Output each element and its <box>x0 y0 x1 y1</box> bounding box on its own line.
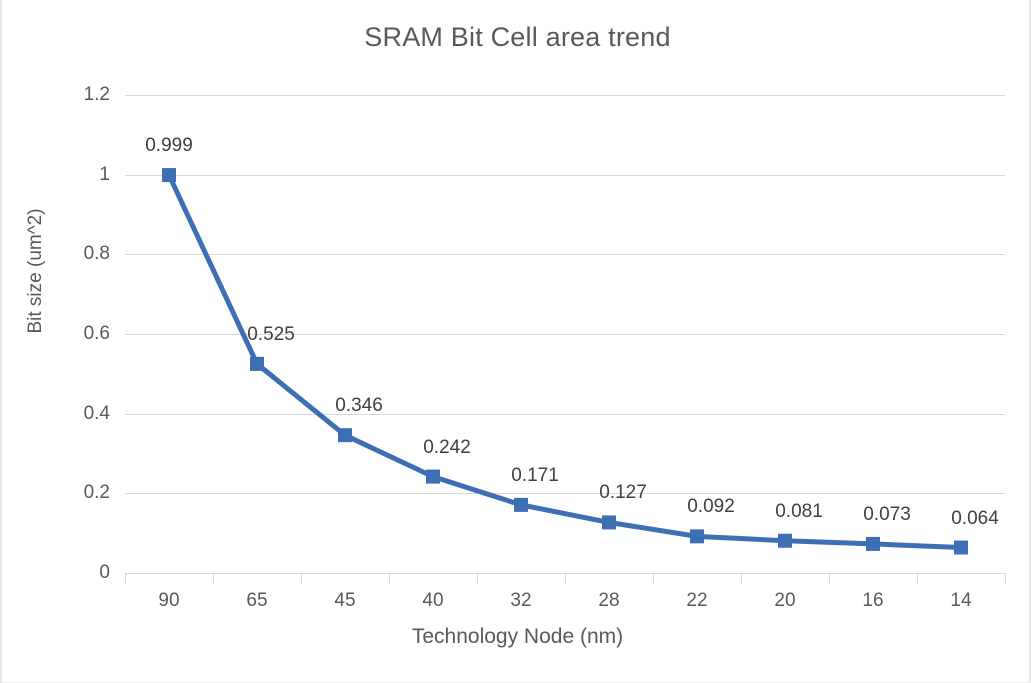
x-axis-tick <box>565 574 566 584</box>
x-axis-tick <box>653 574 654 584</box>
y-axis-tick-label: 0.4 <box>10 403 110 425</box>
x-axis-tick <box>389 574 390 584</box>
x-axis-tick-label: 16 <box>829 590 917 612</box>
y-axis-tick-label: 0.6 <box>10 323 110 345</box>
data-point-label: 0.073 <box>863 504 911 526</box>
x-axis-tick-label: 20 <box>741 590 829 612</box>
x-axis-tick <box>741 574 742 584</box>
x-axis-tick-label: 32 <box>477 590 565 612</box>
data-point-label: 0.127 <box>599 482 647 504</box>
x-axis-tick-label: 65 <box>213 590 301 612</box>
x-axis-tick-label: 40 <box>389 590 477 612</box>
gridline <box>125 493 1005 494</box>
y-axis-tick-label: 1.2 <box>10 84 110 106</box>
x-axis-title: Technology Node (nm) <box>2 625 1031 649</box>
x-axis-tick <box>125 574 126 584</box>
data-point-label: 0.999 <box>145 135 193 157</box>
data-point-label: 0.346 <box>335 395 383 417</box>
x-axis-tick <box>917 574 918 584</box>
y-axis-tick-labels: 00.20.40.60.811.2 <box>2 0 110 683</box>
y-axis-tick-label: 0.2 <box>10 482 110 504</box>
x-axis-tick <box>829 574 830 584</box>
y-axis-tick-label: 0 <box>10 562 110 584</box>
x-axis-tick-label: 28 <box>565 590 653 612</box>
gridline <box>125 95 1005 96</box>
gridline <box>125 175 1005 176</box>
chart-container: SRAM Bit Cell area trend Bit size (um^2)… <box>0 0 1031 683</box>
data-point-label: 0.242 <box>423 437 471 459</box>
x-axis-tick-label: 14 <box>917 590 1005 612</box>
data-point-label: 0.064 <box>951 508 999 530</box>
x-axis-tick <box>213 574 214 584</box>
x-axis-tick <box>301 574 302 584</box>
x-axis-tick <box>477 574 478 584</box>
x-axis-tick <box>1005 574 1006 584</box>
gridline <box>125 254 1005 255</box>
x-axis-tick-label: 22 <box>653 590 741 612</box>
x-axis-tick-label: 45 <box>301 590 389 612</box>
x-axis-tick-label: 90 <box>125 590 213 612</box>
gridline <box>125 414 1005 415</box>
chart-title: SRAM Bit Cell area trend <box>2 22 1031 53</box>
data-point-label: 0.081 <box>775 501 823 523</box>
data-point-label: 0.525 <box>247 324 295 346</box>
y-axis-tick-label: 0.8 <box>10 243 110 265</box>
data-point-label: 0.092 <box>687 496 735 518</box>
y-axis-tick-label: 1 <box>10 164 110 186</box>
data-point-label: 0.171 <box>511 465 559 487</box>
